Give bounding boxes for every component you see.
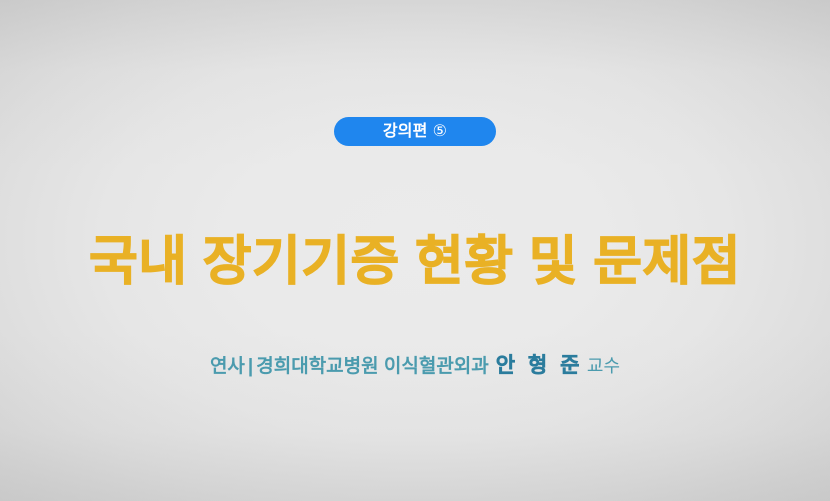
lecture-series-badge: 강의편 ⑤	[334, 117, 496, 146]
title-slide: 강의편 ⑤ 국내 장기기증 현황 및 문제점 연사|경희대학교병원 이식혈관외과…	[0, 0, 830, 501]
slide-content: 강의편 ⑤ 국내 장기기증 현황 및 문제점 연사|경희대학교병원 이식혈관외과…	[0, 0, 830, 501]
speaker-affiliation: 경희대학교병원 이식혈관외과	[256, 356, 489, 377]
speaker-line: 연사|경희대학교병원 이식혈관외과안 형 준교수	[0, 353, 830, 379]
speaker-name: 안 형 준	[496, 354, 583, 377]
slide-title: 국내 장기기증 현황 및 문제점	[0, 232, 830, 291]
badge-label: 강의편	[383, 124, 428, 140]
speaker-separator: |	[248, 356, 253, 377]
speaker-honorific: 교수	[587, 356, 620, 376]
badge-number-icon: ⑤	[433, 124, 448, 140]
badge-row: 강의편 ⑤	[0, 117, 830, 146]
speaker-role-label: 연사	[210, 356, 245, 377]
